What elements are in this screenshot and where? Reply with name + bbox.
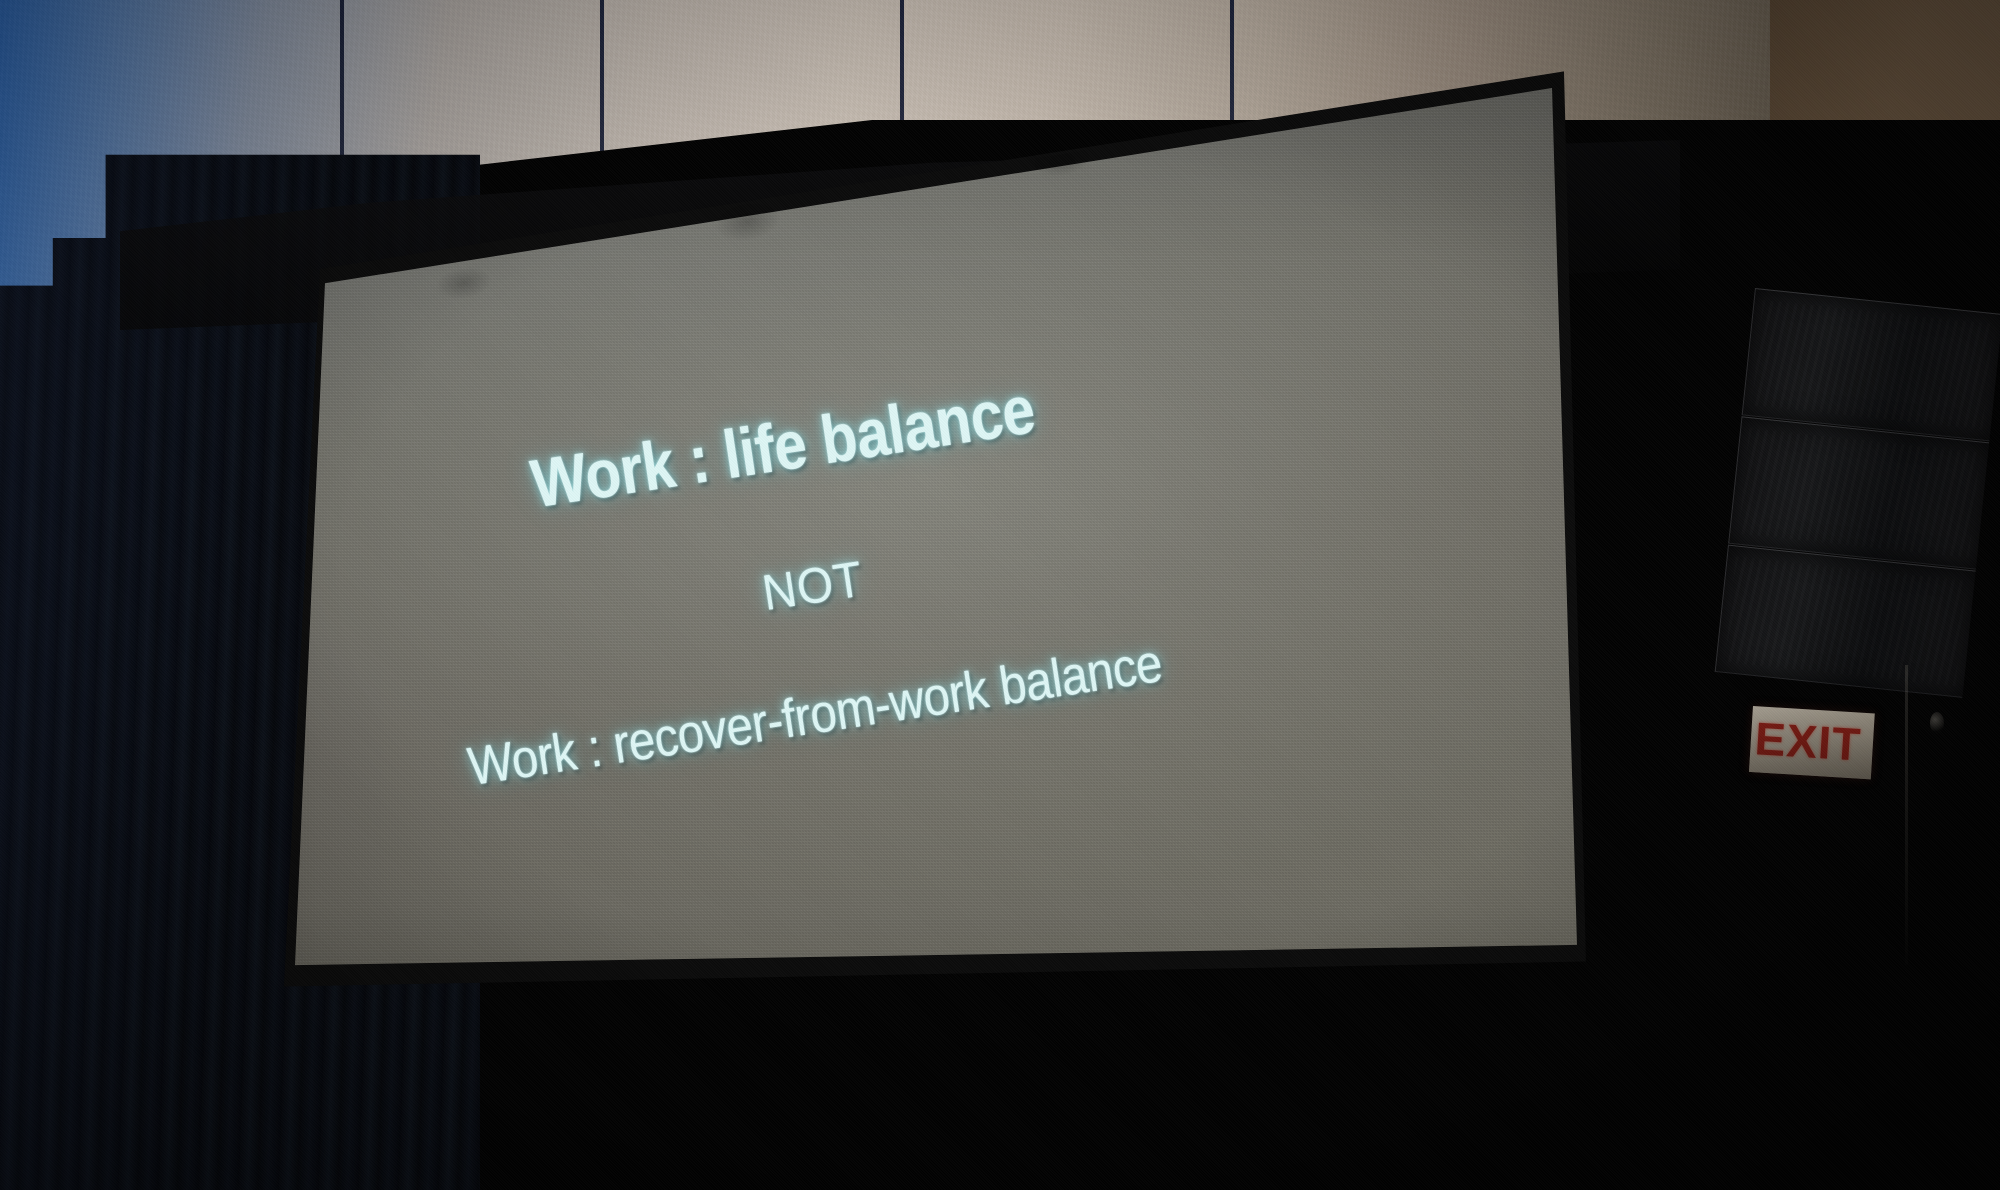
presentation-photo-scene: Work : life balance NOT Work : recover-f… bbox=[0, 0, 2000, 1190]
line-array-loudspeakers bbox=[1714, 288, 2000, 702]
door-frame-edge bbox=[1905, 665, 1908, 965]
slide-content: Work : life balance NOT Work : recover-f… bbox=[0, 0, 2000, 1190]
exit-sign-label: EXIT bbox=[1753, 712, 1862, 770]
slide-title: Work : life balance bbox=[526, 370, 1039, 523]
exit-sign: EXIT bbox=[1749, 706, 1875, 779]
speaker-box-3 bbox=[1715, 545, 1976, 698]
door-hardware bbox=[1930, 712, 1944, 734]
speaker-box-1 bbox=[1742, 288, 2000, 441]
slide-middle-word: NOT bbox=[759, 550, 867, 622]
speaker-grille-2 bbox=[1738, 428, 1980, 558]
speaker-grille-3 bbox=[1725, 556, 1967, 686]
slide-subtitle: Work : recover-from-work balance bbox=[464, 632, 1166, 798]
speaker-box-2 bbox=[1728, 416, 1989, 569]
speaker-grille-1 bbox=[1752, 300, 1994, 430]
